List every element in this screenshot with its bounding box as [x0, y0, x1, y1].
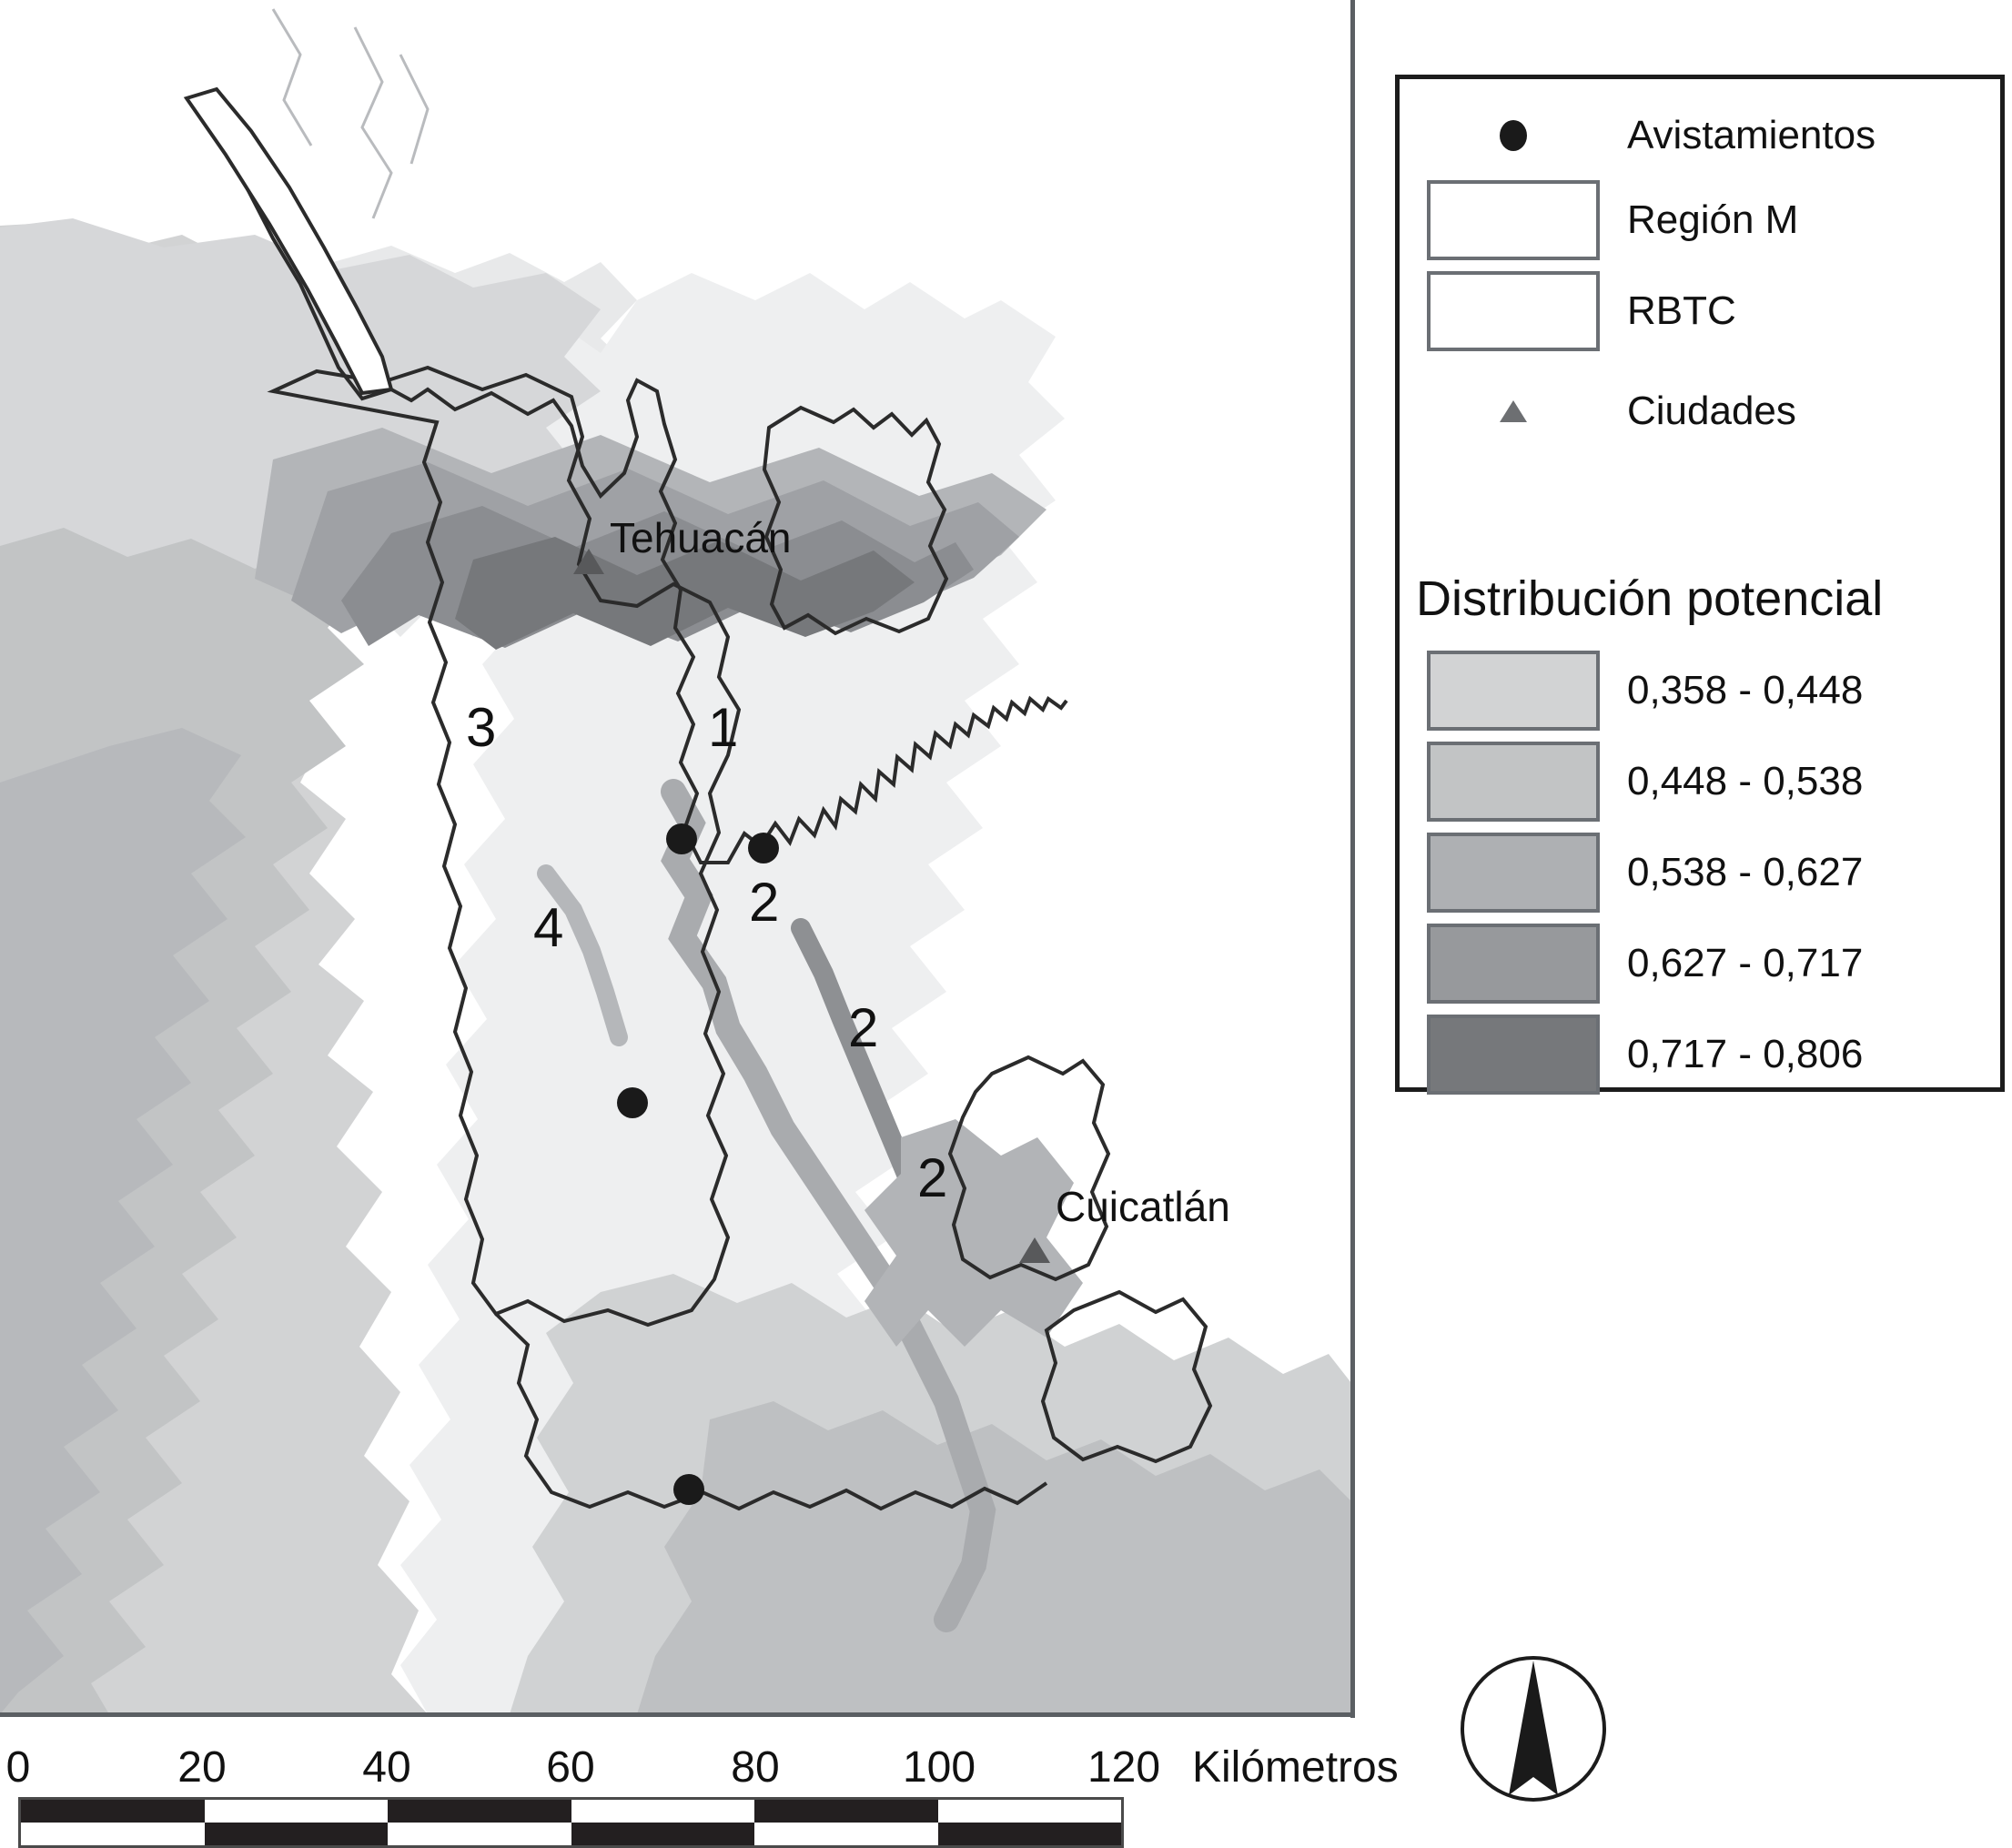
class-swatch-5 — [1427, 1015, 1600, 1095]
scale-bar-graphic — [18, 1797, 1124, 1848]
class-swatch-2 — [1427, 742, 1600, 822]
scale-tick-40: 40 — [362, 1742, 410, 1792]
scale-cell — [388, 1800, 571, 1823]
sighting-dot-icon — [1500, 120, 1527, 151]
city-label-tehuacan: Tehuacán — [610, 517, 792, 559]
city-marker-tehuacan — [573, 549, 604, 574]
scale-cell — [388, 1823, 571, 1845]
scale-cell — [21, 1800, 205, 1823]
scale-tick-20: 20 — [177, 1742, 226, 1792]
scale-tick-row: 0 20 40 60 80 100 120 — [0, 1742, 1137, 1793]
scale-cell — [754, 1800, 938, 1823]
scale-cell — [938, 1823, 1122, 1845]
legend-symbol-col — [1400, 120, 1627, 151]
city-marker-cuicatlan — [1019, 1237, 1050, 1263]
legend-section-title: Distribución potencial — [1416, 571, 1883, 627]
scale-cell — [205, 1823, 389, 1845]
sighting-dot[interactable] — [666, 823, 697, 854]
legend-symbol-col — [1400, 180, 1627, 260]
legend-symbol-col — [1400, 924, 1627, 1004]
scale-tick-100: 100 — [903, 1742, 976, 1792]
legend-symbol-col — [1400, 271, 1627, 351]
scale-bar: 0 20 40 60 80 100 120 — [0, 1742, 1137, 1843]
class-label-5: 0,717 - 0,806 — [1627, 1032, 1863, 1077]
class-label-1: 0,358 - 0,448 — [1627, 668, 1863, 713]
legend-label-ciudades: Ciudades — [1627, 389, 1796, 434]
region-number-4: 4 — [533, 901, 563, 955]
scale-units-label: Kilómetros — [1192, 1742, 1399, 1792]
city-label-cuicatlan: Cuicatlán — [1056, 1186, 1230, 1227]
legend-class-row-4[interactable]: 0,627 - 0,717 — [1400, 918, 2000, 1009]
legend-label-avistamientos: Avistamientos — [1627, 113, 1876, 158]
scale-cell — [938, 1800, 1122, 1823]
legend-class-row-2[interactable]: 0,448 - 0,538 — [1400, 736, 2000, 827]
scale-tick-80: 80 — [731, 1742, 779, 1792]
scale-cell — [754, 1823, 938, 1845]
scale-strip-top — [21, 1800, 1121, 1823]
map-frame-bottom-edge — [0, 1712, 1355, 1717]
region-number-2-b: 2 — [848, 1001, 878, 1055]
scale-cell — [205, 1800, 389, 1823]
map-panel[interactable]: Tehuacán Cuicatlán 3 1 2 4 2 2 — [0, 0, 1356, 1718]
swatch-outline-icon — [1427, 180, 1600, 260]
class-label-4: 0,627 - 0,717 — [1627, 941, 1863, 986]
legend-label-region-m: Región M — [1627, 197, 1798, 243]
scale-cell — [571, 1800, 755, 1823]
swatch-outline-icon — [1427, 271, 1600, 351]
legend-symbol-col — [1400, 400, 1627, 422]
legend-symbol-col — [1400, 742, 1627, 822]
class-label-3: 0,538 - 0,627 — [1627, 850, 1863, 895]
sighting-dot[interactable] — [748, 833, 779, 863]
scale-tick-0: 0 — [6, 1742, 31, 1792]
legend-item-ciudades[interactable]: Ciudades — [1400, 375, 2000, 448]
class-label-2: 0,448 - 0,538 — [1627, 759, 1863, 804]
region-number-2-c: 2 — [917, 1151, 947, 1206]
legend-item-region-m[interactable]: Región M — [1400, 175, 2000, 266]
region-number-2-a: 2 — [749, 875, 779, 930]
legend-symbol-col — [1400, 1015, 1627, 1095]
legend-item-avistamientos[interactable]: Avistamientos — [1400, 99, 2000, 172]
class-swatch-3 — [1427, 833, 1600, 913]
legend-label-rbtc: RBTC — [1627, 288, 1736, 334]
sighting-dot[interactable] — [673, 1474, 704, 1505]
north-arrow-icon — [1456, 1651, 1611, 1806]
map-raster — [0, 0, 1351, 1714]
legend-panel[interactable]: Avistamientos Región M RBTC Ciudades Dis… — [1395, 75, 2005, 1092]
region-number-1: 1 — [708, 701, 738, 755]
scale-strip-bottom — [21, 1823, 1121, 1845]
region-number-3: 3 — [466, 701, 496, 755]
legend-class-row-5[interactable]: 0,717 - 0,806 — [1400, 1009, 2000, 1100]
class-swatch-4 — [1427, 924, 1600, 1004]
legend-class-row-1[interactable]: 0,358 - 0,448 — [1400, 645, 2000, 736]
scale-tick-120: 120 — [1087, 1742, 1160, 1792]
sighting-dot[interactable] — [617, 1087, 648, 1118]
legend-class-row-3[interactable]: 0,538 - 0,627 — [1400, 827, 2000, 918]
map-frame-right-edge — [1350, 0, 1355, 1718]
legend-symbol-col — [1400, 651, 1627, 731]
city-triangle-icon — [1500, 400, 1527, 422]
scale-tick-60: 60 — [546, 1742, 594, 1792]
legend-item-rbtc[interactable]: RBTC — [1400, 266, 2000, 357]
class-swatch-1 — [1427, 651, 1600, 731]
scale-cell — [571, 1823, 755, 1845]
legend-symbol-col — [1400, 833, 1627, 913]
scale-cell — [21, 1823, 205, 1845]
